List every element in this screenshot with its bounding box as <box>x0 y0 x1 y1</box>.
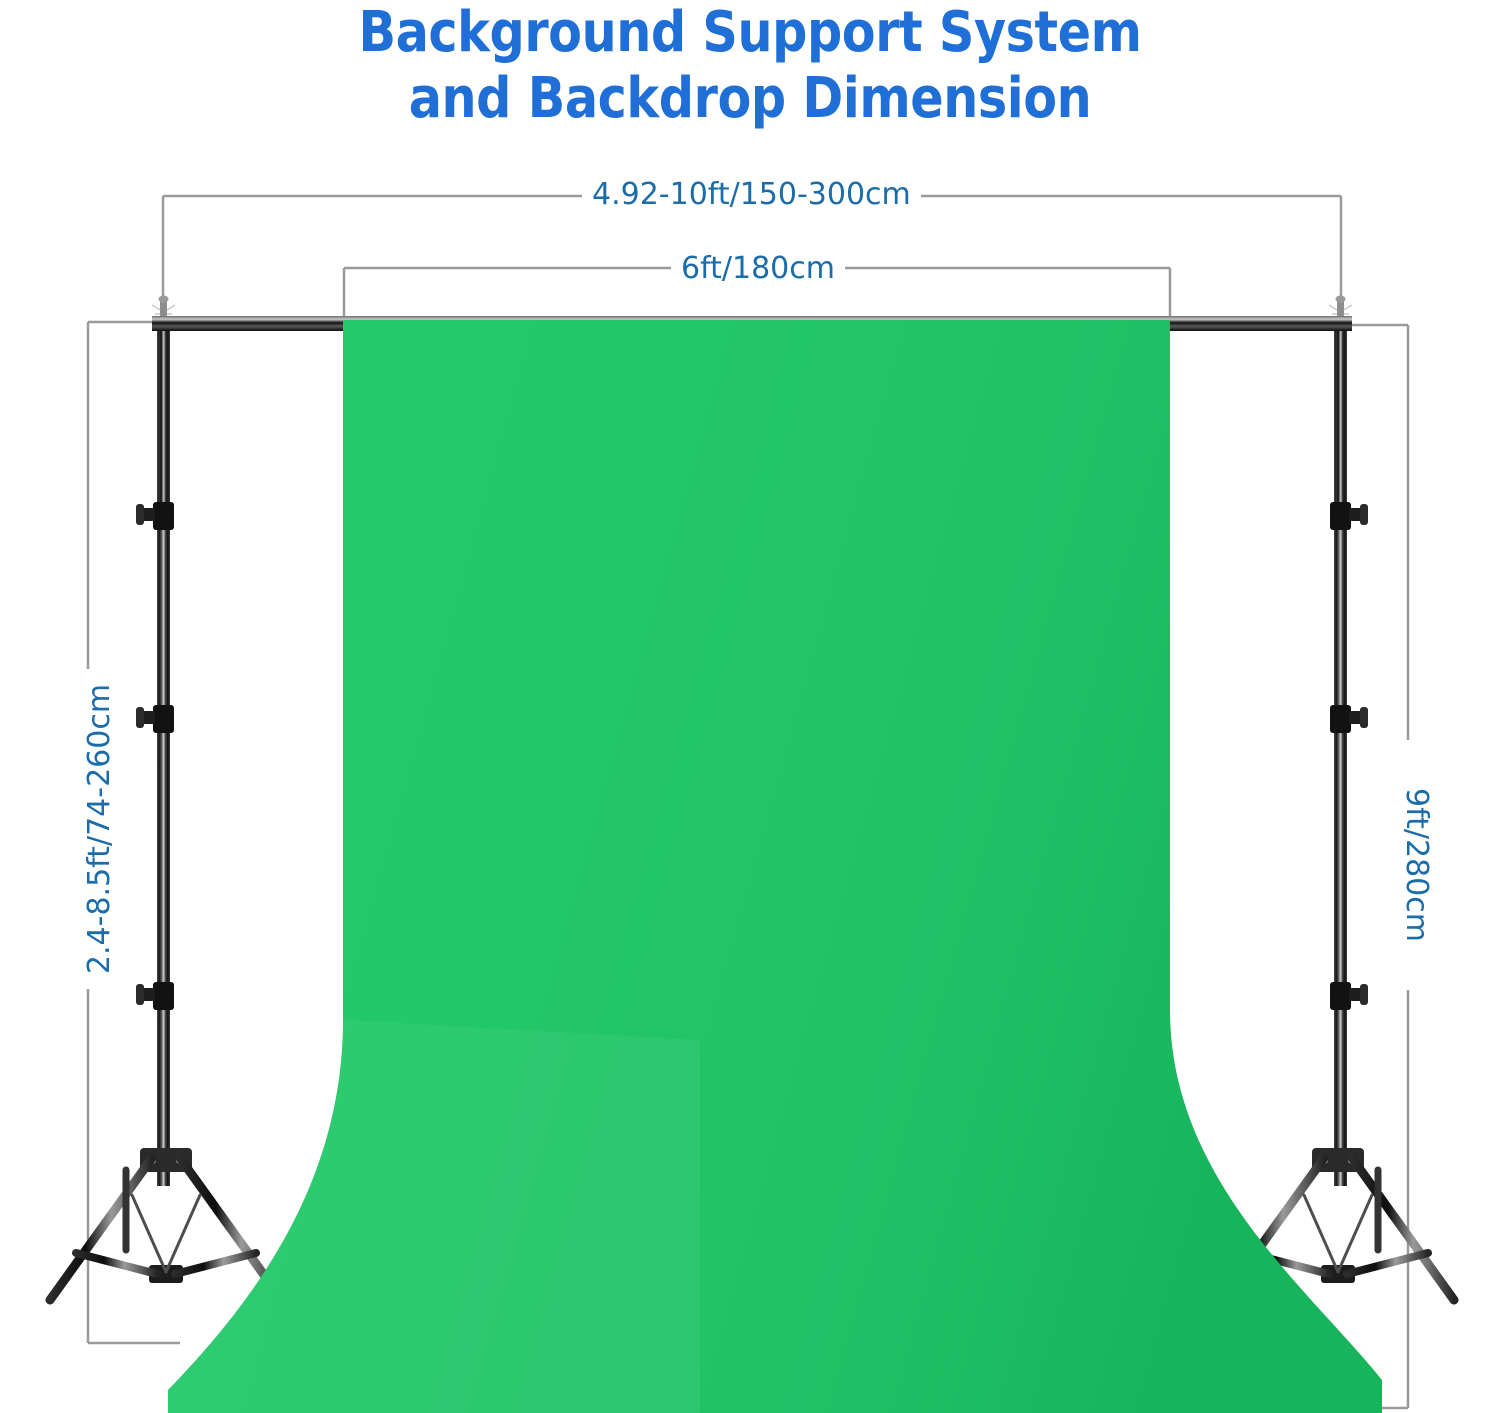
label-backdrop-width: 6ft/180cm <box>671 252 845 286</box>
right-stand-upper-section <box>1336 316 1345 516</box>
left-stand-top-spigot <box>152 296 175 318</box>
product-dimension-diagram: Background Support System and Backdrop D… <box>0 0 1500 1413</box>
label-stand-height: 2.4-8.5ft/74-260cm <box>83 669 117 989</box>
left-stand-upper-section <box>159 316 168 516</box>
right-stand-top-spigot <box>1329 296 1352 318</box>
label-backdrop-height: 9ft/280cm <box>1399 740 1433 990</box>
left-stand-clamp-2 <box>136 705 174 733</box>
backdrop-floor-shading <box>168 1020 700 1413</box>
left-stand-clamp-3 <box>136 982 174 1010</box>
label-stand-width: 4.92-10ft/150-300cm <box>582 178 921 212</box>
left-stand-clamp-1 <box>136 502 174 530</box>
right-stand-clamp-2 <box>1330 705 1368 733</box>
right-stand-clamp-1 <box>1330 502 1368 530</box>
right-stand-clamp-3 <box>1330 982 1368 1010</box>
